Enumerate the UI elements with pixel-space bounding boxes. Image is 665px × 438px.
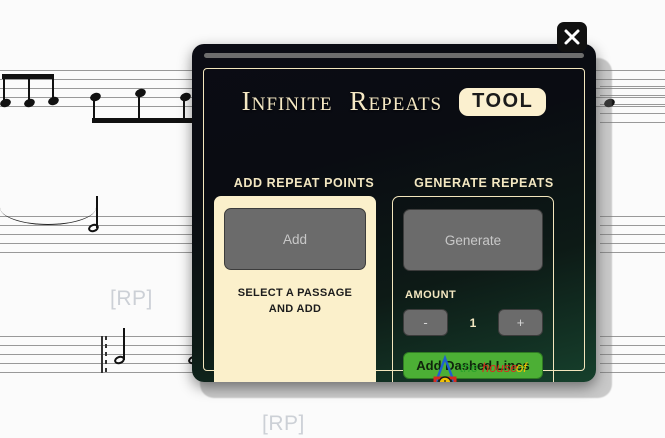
amount-stepper: - 1 + <box>403 309 543 336</box>
dialog-title: Infinite Repeats TOOL <box>192 86 596 117</box>
close-icon <box>563 28 581 46</box>
infinite-repeats-dialog: Infinite Repeats TOOL ADD REPEAT POINTS … <box>192 44 596 382</box>
barline-dashed <box>105 336 107 373</box>
staff-line <box>0 372 200 373</box>
section-header-generate-repeats: GENERATE REPEATS <box>394 176 574 190</box>
barline <box>101 336 103 373</box>
staff-line <box>0 252 200 253</box>
title-word-repeats: Repeats <box>350 86 443 117</box>
add-hint-line-1: SELECT A PASSAGE <box>224 286 366 302</box>
add-button[interactable]: Add <box>224 208 366 270</box>
staff-line <box>0 225 200 226</box>
repeat-point-marker: [RP] <box>262 412 305 436</box>
house-of-andersen-logo: the house of ndersen <box>424 350 536 382</box>
amount-value: 1 <box>470 316 477 330</box>
add-hint-text: SELECT A PASSAGE AND ADD <box>224 286 366 318</box>
title-tool-badge: TOOL <box>459 88 546 116</box>
staff-line <box>0 345 200 346</box>
staff-line <box>0 243 200 244</box>
logo-word-house: house <box>482 360 517 375</box>
title-word-infinite: Infinite <box>242 86 333 117</box>
dialog-drag-handle[interactable] <box>204 53 584 58</box>
notehead <box>179 91 192 102</box>
add-hint-line-2: AND ADD <box>224 302 366 318</box>
amount-decrement-button[interactable]: - <box>403 309 448 336</box>
section-header-row: ADD REPEAT POINTS GENERATE REPEATS <box>214 176 574 190</box>
close-button[interactable] <box>557 22 587 52</box>
logo-word-of: of <box>516 360 528 375</box>
amount-increment-button[interactable]: + <box>498 309 543 336</box>
logo-word-ndersen: ndersen <box>460 380 525 382</box>
staff-line <box>0 336 200 337</box>
slur <box>0 190 96 225</box>
logo-word-the: the <box>460 360 478 375</box>
add-repeat-points-panel: Add SELECT A PASSAGE AND ADD <box>214 196 376 382</box>
staff-line <box>0 234 200 235</box>
section-header-add-repeat-points: ADD REPEAT POINTS <box>214 176 394 190</box>
staff-line <box>0 363 200 364</box>
repeat-point-marker: [RP] <box>110 287 153 311</box>
amount-label: AMOUNT <box>403 289 543 301</box>
staff-line <box>0 354 200 355</box>
notehead <box>89 91 102 102</box>
generate-button[interactable]: Generate <box>403 209 543 271</box>
